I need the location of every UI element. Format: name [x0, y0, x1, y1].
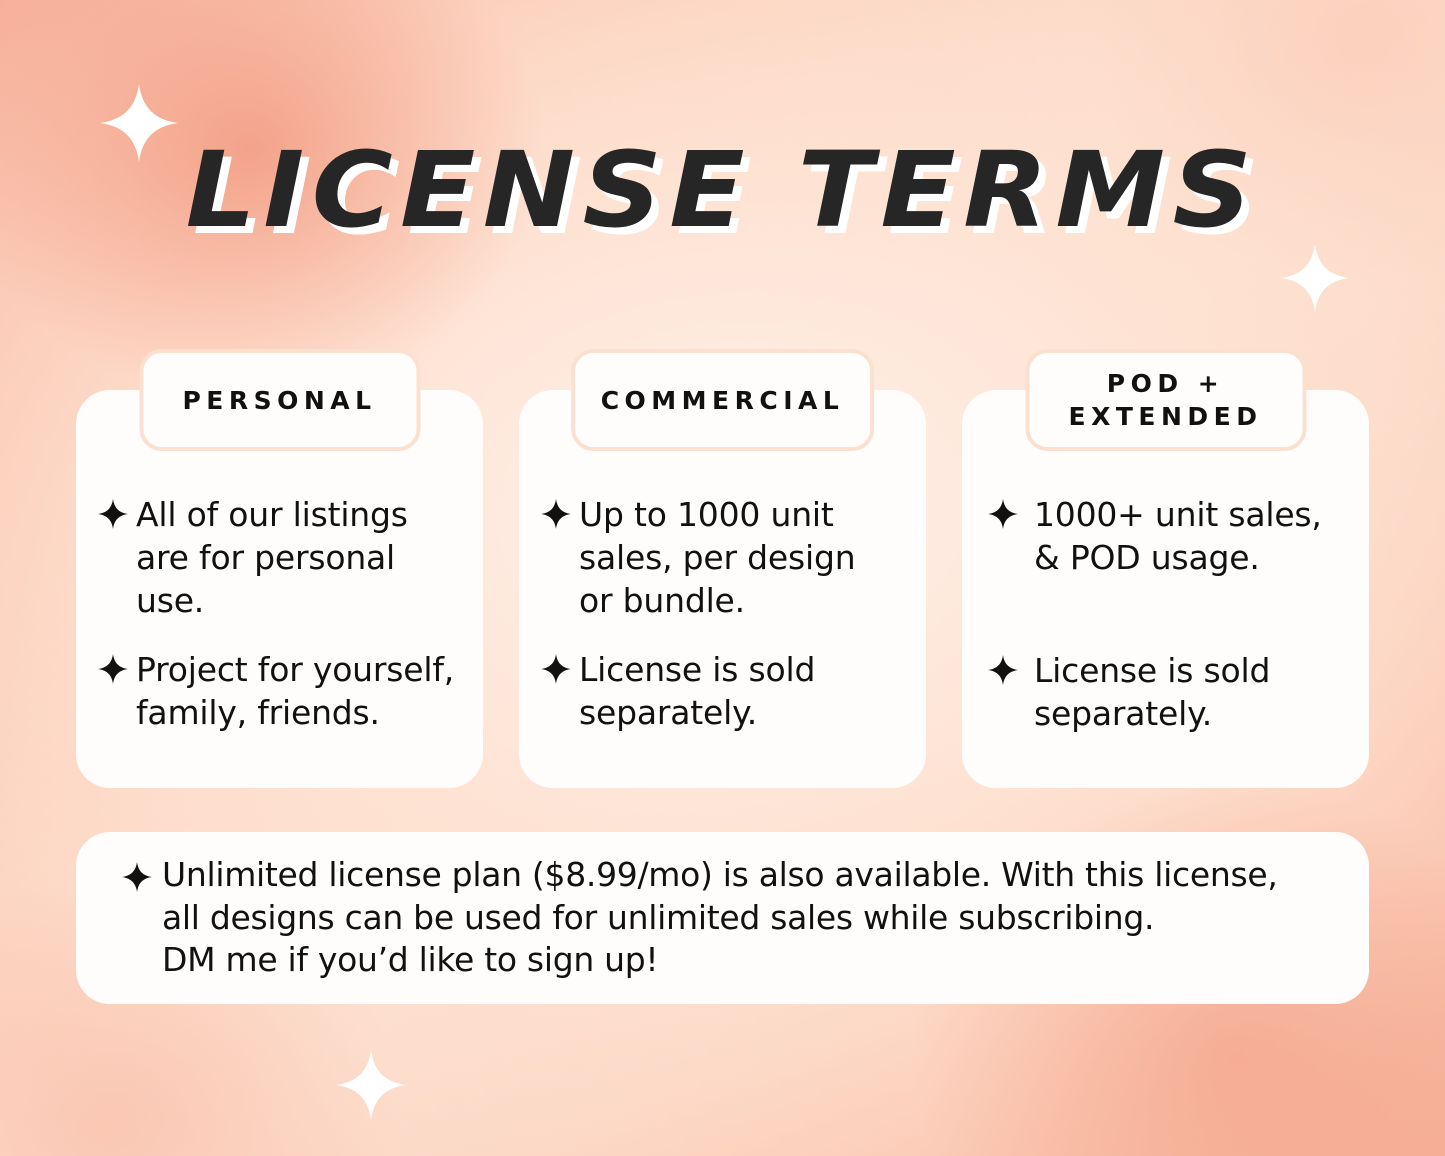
plan-bullet: All of our listings are for personal use…	[98, 494, 461, 623]
plan-bullet: 1000+ unit sales, & POD usage.	[988, 494, 1347, 580]
page-title-wrap: LICENSE TERMS	[0, 138, 1445, 242]
plan-card-pod-extended[interactable]: POD + EXTENDED1000+ unit sales, & POD us…	[962, 390, 1369, 788]
sparkle-bullet-icon	[541, 654, 579, 684]
plan-tab-commercial: COMMERCIAL	[571, 349, 875, 451]
plan-card-body: Up to 1000 unit sales, per design or bun…	[519, 494, 926, 734]
unlimited-plan-banner-inner: Unlimited license plan ($8.99/mo) is als…	[76, 854, 1318, 982]
plan-card-body: 1000+ unit sales, & POD usage.License is…	[962, 494, 1369, 736]
poster-content: LICENSE TERMS PERSONALAll of our listing…	[0, 0, 1445, 1156]
plan-bullet-text: Up to 1000 unit sales, per design or bun…	[579, 494, 855, 623]
plan-tab-label: PERSONAL	[182, 384, 376, 417]
unlimited-plan-banner-text: Unlimited license plan ($8.99/mo) is als…	[162, 854, 1278, 982]
plan-bullet-text: All of our listings are for personal use…	[136, 494, 408, 623]
license-plan-cards: PERSONALAll of our listings are for pers…	[76, 390, 1369, 788]
plan-bullet-text: License is sold separately.	[579, 649, 815, 735]
plan-bullet-text: 1000+ unit sales, & POD usage.	[1034, 494, 1322, 580]
sparkle-icon	[1281, 244, 1349, 312]
plan-tab-label: POD + EXTENDED	[1069, 367, 1263, 433]
plan-bullet: License is sold separately.	[541, 649, 904, 735]
unlimited-plan-banner: Unlimited license plan ($8.99/mo) is als…	[76, 832, 1369, 1004]
sparkle-bullet-icon	[988, 499, 1034, 529]
sparkle-bullet-icon	[988, 655, 1034, 685]
sparkle-icon	[336, 1050, 406, 1120]
plan-bullet: License is sold separately.	[988, 650, 1347, 736]
page-title: LICENSE TERMS	[186, 138, 1260, 242]
plan-card-commercial[interactable]: COMMERCIALUp to 1000 unit sales, per des…	[519, 390, 926, 788]
sparkle-bullet-icon	[98, 499, 136, 529]
plan-tab-personal: PERSONAL	[139, 349, 420, 451]
plan-bullet: Up to 1000 unit sales, per design or bun…	[541, 494, 904, 623]
plan-tab-pod-extended: POD + EXTENDED	[1025, 349, 1306, 451]
plan-tab-label: COMMERCIAL	[601, 384, 845, 417]
plan-card-personal[interactable]: PERSONALAll of our listings are for pers…	[76, 390, 483, 788]
plan-bullet: Project for yourself, family, friends.	[98, 649, 461, 735]
sparkle-bullet-icon	[541, 499, 579, 529]
plan-card-body: All of our listings are for personal use…	[76, 494, 483, 734]
plan-bullet-text: License is sold separately.	[1034, 650, 1270, 736]
sparkle-bullet-icon	[122, 862, 162, 892]
sparkle-bullet-icon	[98, 654, 136, 684]
plan-bullet-text: Project for yourself, family, friends.	[136, 649, 454, 735]
